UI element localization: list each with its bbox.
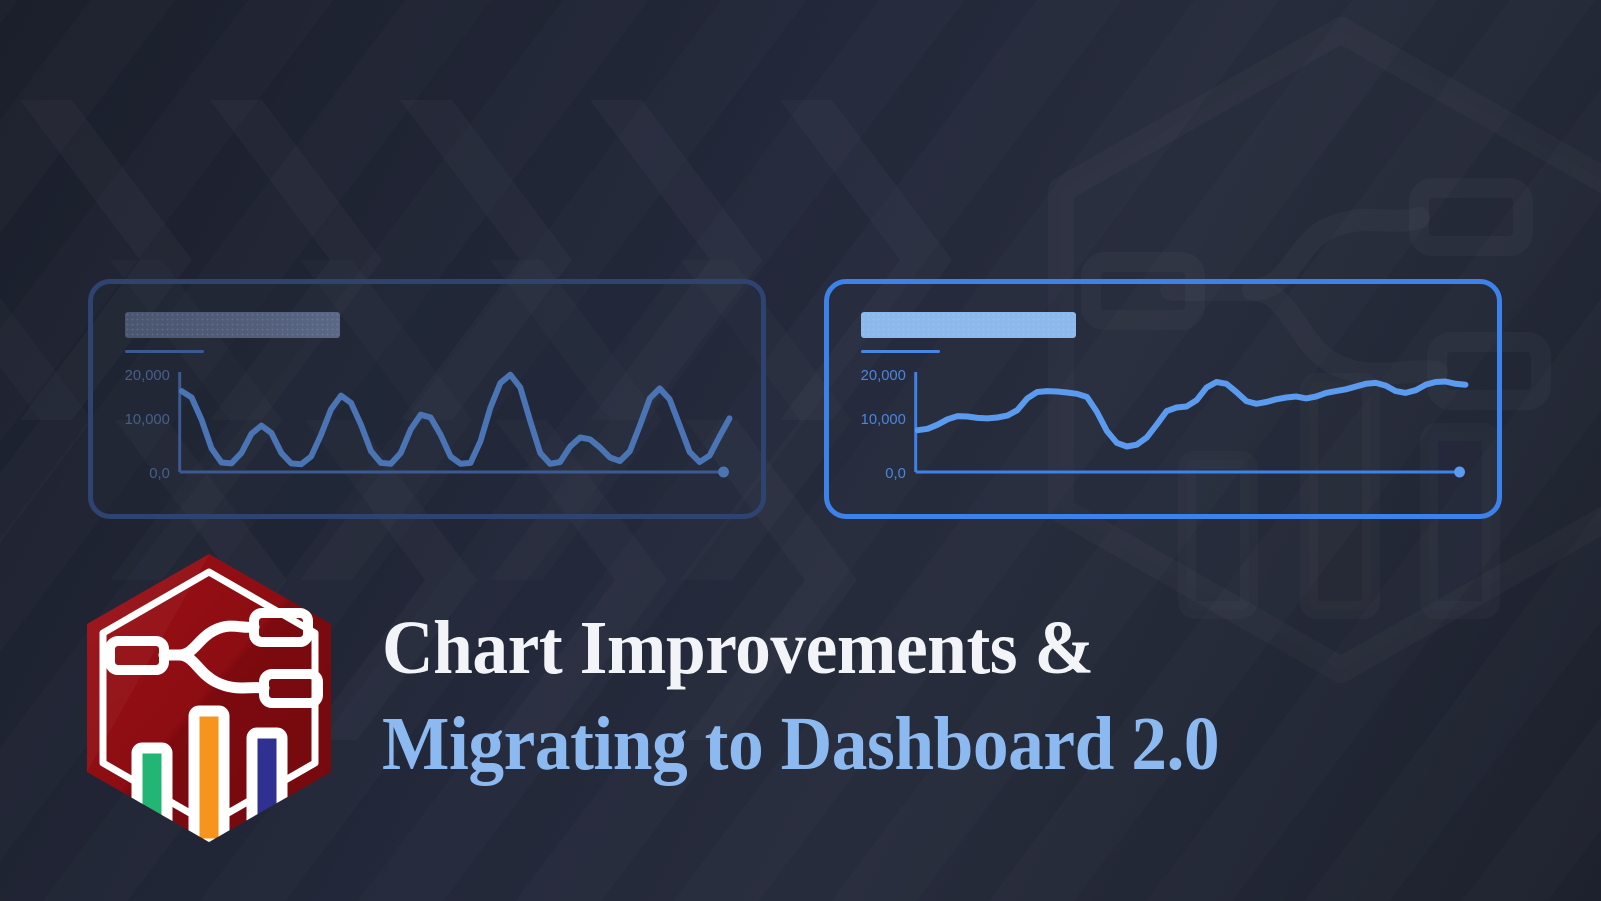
logo-bar-blue <box>252 733 282 844</box>
logo-bar-green <box>137 748 167 844</box>
line-chart-before: 20,000 10,000 0,0 <box>93 360 761 508</box>
card-title-underline <box>861 350 940 353</box>
chart-card-after[interactable]: 20,000 10,000 0,0 <box>824 279 1502 519</box>
headline-line-2: Migrating to Dashboard 2.0 <box>382 696 1435 792</box>
y-tick-label-20000: 20,000 <box>861 368 906 384</box>
logo-bar-orange <box>194 711 224 844</box>
series-line-after <box>918 382 1466 447</box>
x-axis-end-dot <box>718 467 729 478</box>
y-tick-label-20000: 20,000 <box>125 368 170 384</box>
card-title-underline <box>125 350 204 353</box>
chart-card-before[interactable]: 20,000 10,000 0,0 <box>88 279 766 519</box>
poster-canvas: 20,000 10,000 0,0 20,000 10,000 0,0 <box>0 0 1601 901</box>
headline-block: Chart Improvements & Migrating to Dashbo… <box>382 600 1502 792</box>
y-tick-label-10000: 10,000 <box>861 412 906 428</box>
y-tick-label-10000: 10,000 <box>125 412 170 428</box>
zabbix-hexagon-logo <box>78 548 340 848</box>
line-chart-after: 20,000 10,000 0,0 <box>829 360 1497 508</box>
x-axis-end-dot <box>1454 467 1465 478</box>
y-tick-label-0: 0,0 <box>885 466 906 482</box>
series-line-before <box>182 375 730 465</box>
headline-line-1: Chart Improvements & <box>382 600 1435 696</box>
card-title-placeholder-bar <box>861 312 1076 338</box>
card-title-placeholder-bar <box>125 312 340 338</box>
y-tick-label-0: 0,0 <box>149 466 170 482</box>
